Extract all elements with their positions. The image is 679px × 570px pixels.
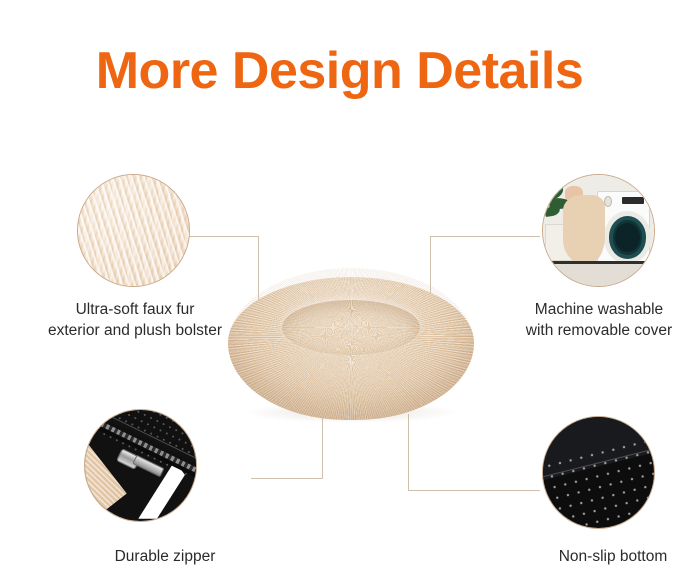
zipper-closeup-image xyxy=(84,409,197,522)
zipper-scene-graphic xyxy=(85,410,196,521)
connector-line-top-right-horizontal xyxy=(430,236,540,237)
callout-caption-durable-zipper: Durable zipper xyxy=(40,547,290,568)
non-slip-scene-graphic xyxy=(543,417,654,528)
caption-line: with removable cover xyxy=(449,321,679,342)
caption-line: Machine washable xyxy=(449,300,679,321)
connector-line-bottom-right-vertical xyxy=(408,414,409,491)
connector-line-bottom-right-horizontal xyxy=(408,490,540,491)
page-title: More Design Details xyxy=(0,44,679,99)
washer-drum xyxy=(615,223,641,252)
caption-line: Non-slip bottom xyxy=(488,547,679,568)
product-infographic: More Design Details Ultra-soft faux fur … xyxy=(0,0,679,570)
washer-floor xyxy=(543,262,654,286)
faux-fur-closeup-image xyxy=(77,174,190,287)
callout-caption-ultra-soft-faux-fur: Ultra-soft faux fur exterior and plush b… xyxy=(0,300,280,342)
fur-texture-graphic xyxy=(78,175,189,286)
caption-line: exterior and plush bolster xyxy=(0,321,280,342)
connector-line-top-left-horizontal xyxy=(188,236,259,237)
plant-leaf xyxy=(545,205,561,217)
wall-baseboard xyxy=(550,261,648,264)
pet-bed-image xyxy=(228,268,474,420)
washer-scene-graphic xyxy=(543,175,654,286)
washing-machine-image xyxy=(542,174,655,287)
caption-line: Ultra-soft faux fur xyxy=(0,300,280,321)
non-slip-dots-image xyxy=(542,416,655,529)
callout-caption-machine-washable: Machine washable with removable cover xyxy=(449,300,679,342)
pet-bed-cushion-center xyxy=(282,300,420,355)
washer-control-panel xyxy=(622,197,644,205)
callout-caption-non-slip-bottom: Non-slip bottom xyxy=(488,547,679,568)
removable-fur-cover xyxy=(563,195,605,264)
caption-line: Durable zipper xyxy=(40,547,290,568)
connector-line-bottom-left-horizontal xyxy=(251,478,323,479)
washer-door xyxy=(604,211,652,264)
